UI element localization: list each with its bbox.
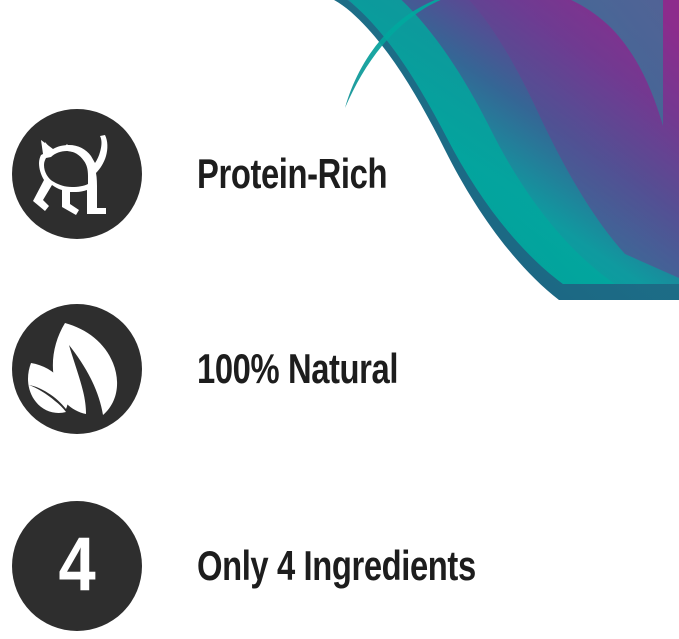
feature-item-ingredients: 4 Only 4 Ingredients [0, 500, 679, 632]
cat-icon-badge [12, 109, 142, 239]
number-four-icon: 4 [59, 527, 95, 603]
feature-list: Protein-Rich 100% Natural 4 Only 4 Ingre… [0, 0, 679, 639]
leaf-icon [25, 319, 129, 419]
feature-label-protein-rich: Protein-Rich [197, 153, 387, 195]
cat-icon [29, 132, 125, 216]
feature-item-protein-rich: Protein-Rich [0, 108, 679, 240]
feature-label-ingredients: Only 4 Ingredients [197, 545, 476, 587]
leaf-icon-badge [12, 304, 142, 434]
feature-label-natural: 100% Natural [197, 348, 398, 390]
feature-item-natural: 100% Natural [0, 303, 679, 435]
product-feature-panel: Protein-Rich 100% Natural 4 Only 4 Ingre… [0, 0, 679, 639]
number-four-icon-badge: 4 [12, 501, 142, 631]
